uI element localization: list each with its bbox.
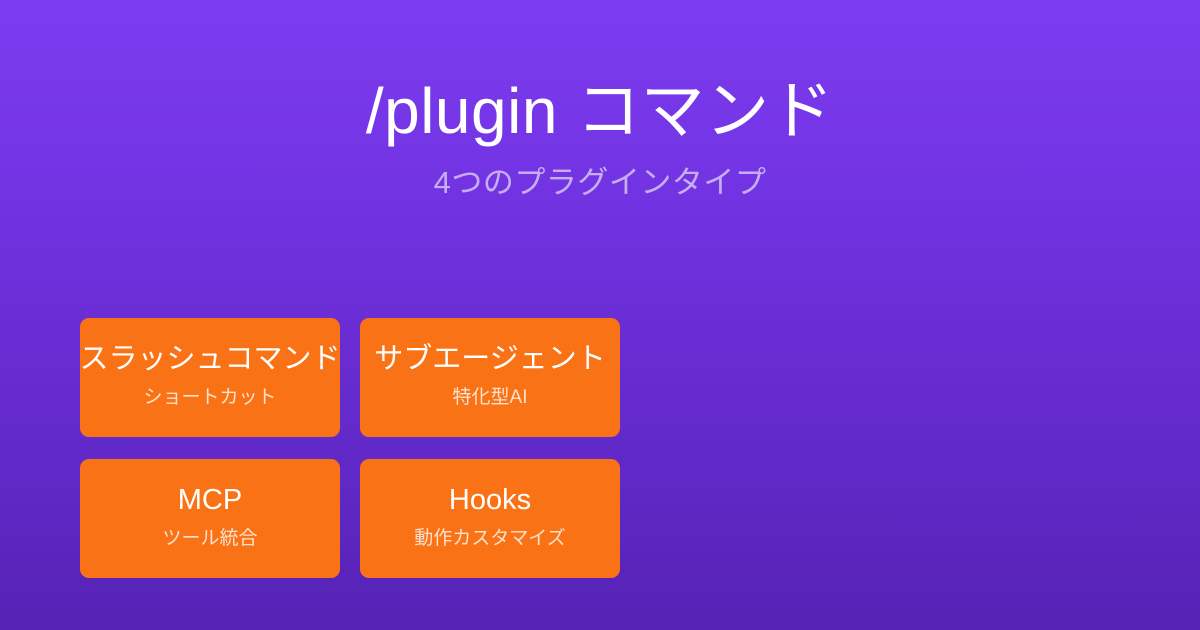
slide-header: /plugin コマンド 4つのプラグインタイプ: [0, 0, 1200, 201]
page-title: /plugin コマンド: [0, 78, 1200, 145]
page-subtitle: 4つのプラグインタイプ: [0, 145, 1200, 201]
plugin-card-subtitle: 特化型AI: [453, 377, 528, 410]
plugin-card-title: サブエージェント: [374, 342, 605, 377]
plugin-card-subagent[interactable]: サブエージェント 特化型AI: [360, 318, 620, 437]
plugin-card-slash-command[interactable]: スラッシュコマンド ショートカット: [80, 318, 340, 437]
plugin-card-subtitle: ショートカット: [143, 377, 276, 410]
presentation-slide: /plugin コマンド 4つのプラグインタイプ スラッシュコマンド ショートカ…: [0, 0, 1200, 630]
plugin-card-subtitle: 動作カスタマイズ: [414, 518, 565, 551]
plugin-card-title: Hooks: [449, 483, 531, 518]
plugin-card-hooks[interactable]: Hooks 動作カスタマイズ: [360, 459, 620, 578]
plugin-card-title: MCP: [178, 483, 242, 518]
plugin-card-title: スラッシュコマンド: [80, 342, 340, 377]
plugin-type-grid: スラッシュコマンド ショートカット サブエージェント 特化型AI MCP ツール…: [80, 318, 620, 578]
plugin-card-mcp[interactable]: MCP ツール統合: [80, 459, 340, 578]
plugin-card-subtitle: ツール統合: [162, 518, 257, 551]
